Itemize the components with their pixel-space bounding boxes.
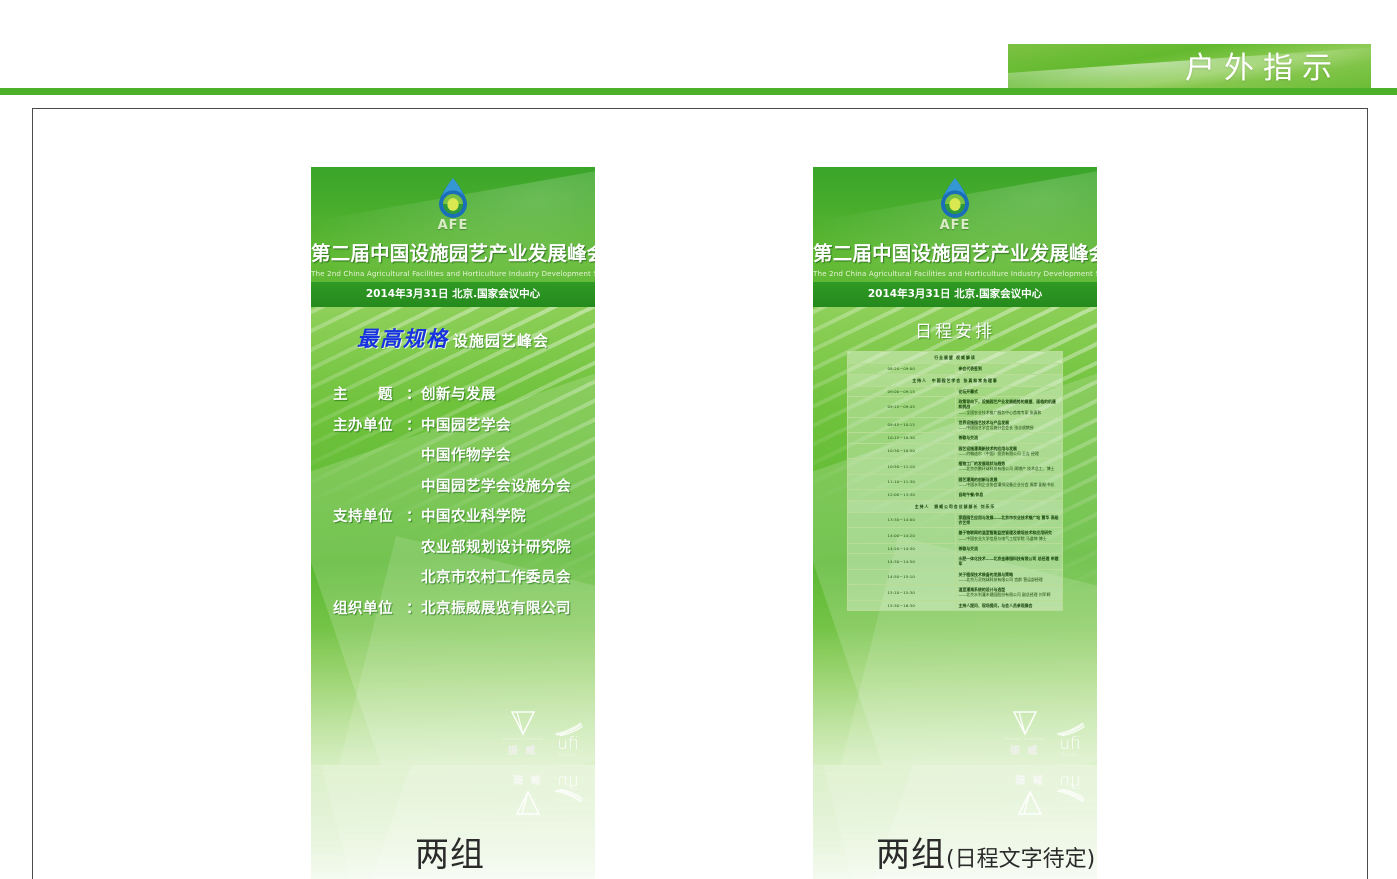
banner-header-right: AFE 第二届中国设施园艺产业发展峰会 The 2nd China Agricu… [813,167,1097,307]
info-value: 北京市农村工作委员会 [421,566,571,587]
schedule-time: 10:30－10:50 [848,443,956,459]
ufi-logo: ufi Member [1055,722,1085,757]
schedule-row: 14:00－14:20基于物联网的温室智能监控管理及栽培技术和应用研究——中国农… [848,528,1063,544]
info-value: 中国园艺学会设施分会 [421,475,571,496]
info-label: 组织单位： [333,597,421,618]
rollup-banner-right: AFE 第二届中国设施园艺产业发展峰会 The 2nd China Agricu… [813,167,1097,765]
header-rule [0,88,1397,95]
schedule-time: 11:10－11:30 [848,474,956,490]
info-row: 主办单位： 中国园艺学会 [333,414,595,435]
schedule-topic: 政策导向下，设施园艺产业发展趋势的展望、面临的机遇和挑战——全国农业技术推广服务… [955,397,1063,418]
zhenwei-cn: 振 威 [502,742,543,757]
zhenwei-logo: Zhenwei Exhibition 振 威 [502,707,543,757]
info-value: 中国农业科学院 [421,505,526,526]
schedule-topic: 园艺设施灌溉新技术的应用与发展——约翰迪尔（中国）投资有限公司 王吉 经理 [955,443,1063,459]
info-value: 创新与发展 [421,383,496,404]
afe-logo: AFE [813,167,1097,232]
top-banner: 户外指示 [0,44,1397,94]
ufi-word-reflection: ufi [553,773,583,789]
schedule-row: 10:30－10:50园艺设施灌溉新技术的应用与发展——约翰迪尔（中国）投资有限… [848,443,1063,459]
schedule-time: 08:20－09:00 [848,364,956,374]
top-banner-tab: 户外指示 [1008,44,1371,88]
info-value: 中国作物学会 [421,444,511,465]
zhenwei-logo-reflection: 振 威 [513,773,543,819]
caption-left-main: 两组 [415,835,485,875]
schedule-section-row: 主持人 振威公司会议部部长 刘乐乐 [848,500,1063,512]
schedule-time: 15:30－16:30 [848,600,956,610]
info-value: 北京振威展览有限公司 [421,597,571,618]
schedule-topic: 参会代表签到 [955,364,1063,374]
schedule-time: 09:45－10:15 [848,417,956,433]
banner-body-left: 最高规格设施园艺峰会 主 题： 创新与发展 主办单位： 中国园艺学会 [311,307,595,765]
schedule-row: 10:15－10:30茶歇与交流 [848,433,1063,443]
schedule-topic: 园艺灌溉的创新与发展——中国水利企业协会灌排设备企业分会 周崇 副秘书长 [955,474,1063,490]
schedule-row: 14:20－14:30茶歇与交流 [848,543,1063,553]
schedule-topic: 主持人提问、现场提问，与会人员参观展会 [955,600,1063,610]
schedule-speaker: ——北京水利灌木建园股份有限公司 副总经理 刘军辉 [959,592,1060,597]
zhenwei-mark-icon [513,789,543,819]
afe-logo-text: AFE [813,219,1097,232]
schedule-topic: 水肥一体化技术——北京金稼园科技有限公司 总经理 申建军 [955,554,1063,570]
banner-subtitle-right: The 2nd China Agricultural Facilities an… [813,269,1097,278]
banner-title-left: 第二届中国设施园艺产业发展峰会 [311,237,595,266]
schedule-row: 15:30－16:30主持人提问、现场提问，与会人员参观展会 [848,600,1063,610]
schedule-topic: 关于植保技术装备的发展与策略——北京万灵铭球科技有限公司 宫群 营运部经理 [955,569,1063,585]
afe-logo-text: AFE [311,219,595,232]
slogan-accent: 最高规格 [357,327,449,351]
schedule-speaker: ——约翰迪尔（中国）投资有限公司 王吉 经理 [959,451,1060,456]
water-drop-icon [433,176,473,220]
info-row: 中国园艺学会设施分会 [333,475,595,496]
zhenwei-mark-icon [502,707,543,737]
zhenwei-en: Zhenwei Exhibition [502,737,543,741]
info-label: 支持单位： [333,505,421,526]
schedule-time: 13:30－14:00 [848,512,956,528]
page-root: 户外指示 AFE 第二届中国设施园艺产业发展峰会 [0,0,1397,879]
zhenwei-mark-icon [1015,789,1045,819]
reflection-logos: 振 威 ufi [513,773,583,819]
caption-right-main: 两组 [876,835,946,875]
banner-header-left: AFE 第二届中国设施园艺产业发展峰会 The 2nd China Agricu… [311,167,595,307]
info-row: 支持单位： 中国农业科学院 [333,505,595,526]
schedule-topic: 植物工厂的发展现状与趋势——北京京鹏环球科技有限公司 周增产 技术总工、博士 [955,459,1063,475]
ufi-logo-reflection: ufi [553,773,583,803]
ufi-word: ufi [553,736,583,752]
schedule-topic: 自助午餐/休息 [955,490,1063,500]
schedule-row: 14:30－14:50水肥一体化技术——北京金稼园科技有限公司 总经理 申建军 [848,554,1063,570]
schedule-row: 12:00－13:30自助午餐/休息 [848,490,1063,500]
ufi-mark-icon [553,789,583,803]
info-row: 组织单位： 北京振威展览有限公司 [333,597,595,618]
schedule-row: 08:20－09:00参会代表签到 [848,364,1063,374]
schedule-topic: 基于物联网的温室智能监控管理及栽培技术和应用研究——中国农业大学信息与电气工程学… [955,528,1063,544]
schedule-row: 10:50－11:10植物工厂的发展现状与趋势——北京京鹏环球科技有限公司 周增… [848,459,1063,475]
zhenwei-logo-reflection: 振 威 [1015,773,1045,819]
schedule-time: 09:15－09:45 [848,397,956,418]
info-value: 中国园艺学会 [421,414,511,435]
info-row: 中国作物学会 [333,444,595,465]
schedule-table: 行业展望 权威解读08:20－09:00参会代表签到主持人 中国园艺学会 张真和… [847,351,1063,611]
schedule-section-label: 行业展望 权威解读 [848,352,1063,364]
schedule-row: 15:10－15:30温室灌溉系统的设计与选型——北京水利灌木建园股份有限公司 … [848,585,1063,601]
schedule-section-row: 行业展望 权威解读 [848,352,1063,364]
schedule-speaker: ——中国农业大学信息与电气工程学院 马道坤 博士 [959,536,1060,541]
organizer-info-list: 主 题： 创新与发展 主办单位： 中国园艺学会 中 [311,383,595,618]
afe-logo: AFE [311,167,595,232]
schedule-time: 15:10－15:30 [848,585,956,601]
info-row: 农业部规划设计研究院 [333,536,595,557]
content-sheet: AFE 第二届中国设施园艺产业发展峰会 The 2nd China Agricu… [32,108,1368,879]
caption-right: 两组(日程文字待定) [876,827,1095,876]
schedule-title: 日程安排 [813,317,1097,342]
schedule-speaker: ——中国水利企业协会灌排设备企业分会 周崇 副秘书长 [959,482,1060,487]
banner-date-left: 2014年3月31日 北京.国家会议中心 [311,282,595,307]
zhenwei-logo: Zhenwei Exhibition 振 威 [1004,707,1045,757]
banner-footer-logos-left: Zhenwei Exhibition 振 威 ufi Member [502,707,583,757]
zhenwei-en: Zhenwei Exhibition [1004,737,1045,741]
caption-right-note: (日程文字待定) [946,847,1095,872]
caption-left: 两组 [415,827,485,876]
info-value: 农业部规划设计研究院 [421,536,571,557]
zhenwei-mark-icon [1004,707,1045,737]
info-row: 北京市农村工作委员会 [333,566,595,587]
schedule-time: 14:20－14:30 [848,543,956,553]
schedule-time: 14:00－14:20 [848,528,956,544]
schedule-time: 10:15－10:30 [848,433,956,443]
banner-title-right: 第二届中国设施园艺产业发展峰会 [813,237,1097,266]
schedule-time: 14:30－14:50 [848,554,956,570]
schedule-speaker: ——北京京鹏环球科技有限公司 周增产 技术总工、博士 [959,466,1060,471]
ufi-logo: ufi Member [553,722,583,757]
ufi-mark-icon [1055,789,1085,803]
schedule-time: 09:00－09:15 [848,386,956,396]
banner-date-right: 2014年3月31日 北京.国家会议中心 [813,282,1097,307]
schedule-row: 09:45－10:15世界设施园艺技术与产品发展——中国园艺学会设施分会会长 张… [848,417,1063,433]
schedule-time: 12:00－13:30 [848,490,956,500]
schedule-topic: 世界设施园艺技术与产品发展——中国园艺学会设施分会会长 张志斌教授 [955,417,1063,433]
schedule-section-row: 主持人 中国园艺学会 张真和常务理事 [848,374,1063,386]
banner-footer-logos-right: Zhenwei Exhibition 振 威 ufi Member [1004,707,1085,757]
page-title: 户外指示 [1185,44,1341,87]
schedule-topic: 温室灌溉系统的设计与选型——北京水利灌木建园股份有限公司 副总经理 刘军辉 [955,585,1063,601]
info-label: 主 题： [333,383,421,404]
zhenwei-cn: 振 威 [1004,742,1045,757]
schedule-row: 09:15－09:45政策导向下，设施园艺产业发展趋势的展望、面临的机遇和挑战—… [848,397,1063,418]
banner-body-right: 日程安排 行业展望 权威解读08:20－09:00参会代表签到主持人 中国园艺学… [813,307,1097,765]
schedule-time: 10:50－11:10 [848,459,956,475]
schedule-topic: 茶歇与交流 [955,433,1063,443]
schedule-section-label: 主持人 中国园艺学会 张真和常务理事 [848,374,1063,386]
schedule-section-label: 主持人 振威公司会议部部长 刘乐乐 [848,500,1063,512]
schedule-row: 09:00－09:15论坛开幕式 [848,386,1063,396]
schedule-time: 14:50－15:10 [848,569,956,585]
zhenwei-cn-reflection: 振 威 [513,773,543,788]
info-label: 主办单位： [333,414,421,435]
banner-subtitle-left: The 2nd China Agricultural Facilities an… [311,269,595,278]
schedule-row: 14:50－15:10关于植保技术装备的发展与策略——北京万灵铭球科技有限公司 … [848,569,1063,585]
schedule-row: 11:10－11:30园艺灌溉的创新与发展——中国水利企业协会灌排设备企业分会 … [848,474,1063,490]
banner-slogan: 最高规格设施园艺峰会 [311,323,595,353]
schedule-table-body: 行业展望 权威解读08:20－09:00参会代表签到主持人 中国园艺学会 张真和… [848,352,1063,611]
schedule-topic: 家庭园艺应用与发展——北京市农业技术推广站 曹华 高级农艺师 [955,512,1063,528]
slogan-rest: 设施园艺峰会 [453,332,549,350]
schedule-speaker: ——中国园艺学会设施分会会长 张志斌教授 [959,425,1060,430]
rollup-banner-left: AFE 第二届中国设施园艺产业发展峰会 The 2nd China Agricu… [311,167,595,765]
schedule-topic: 论坛开幕式 [955,386,1063,396]
info-row: 主 题： 创新与发展 [333,383,595,404]
schedule-topic: 茶歇与交流 [955,543,1063,553]
schedule-speaker: ——全国农业技术推广服务中心首席专家 张真和 [959,410,1060,415]
schedule-speaker: ——北京万灵铭球科技有限公司 宫群 营运部经理 [959,577,1060,582]
ufi-word: ufi [1055,736,1085,752]
zhenwei-cn-reflection: 振 威 [1015,773,1045,788]
ufi-word-reflection: ufi [1055,773,1085,789]
reflection-logos: 振 威 ufi [1015,773,1085,819]
water-drop-icon [935,176,975,220]
schedule-row: 13:30－14:00家庭园艺应用与发展——北京市农业技术推广站 曹华 高级农艺… [848,512,1063,528]
ufi-logo-reflection: ufi [1055,773,1085,803]
